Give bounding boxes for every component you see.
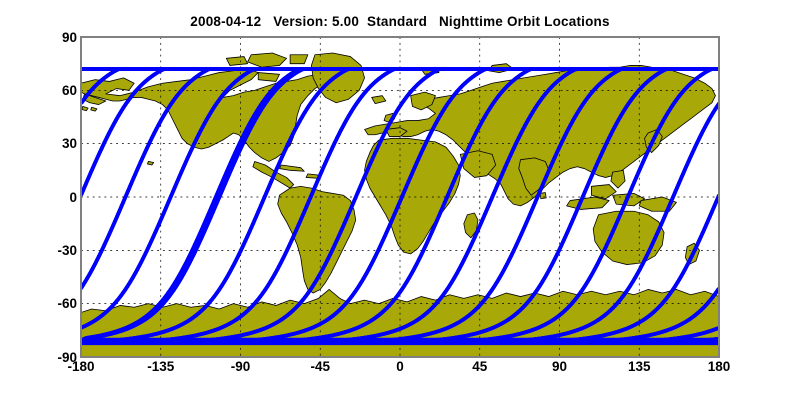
x-tick-m90: -90 <box>231 360 251 374</box>
x-tick-90: 90 <box>552 360 567 374</box>
polar-convergence-band <box>81 339 719 343</box>
y-axis-latitude-ticks: 90 60 30 0 -30 -60 -90 <box>27 37 77 357</box>
y-tick-m30: -30 <box>33 244 77 258</box>
x-tick-m45: -45 <box>310 360 330 374</box>
orbit-map-figure: 2008-04-12 Version: 5.00 Standard Nightt… <box>0 0 800 400</box>
y-tick-30: 30 <box>33 137 77 151</box>
figure-title: 2008-04-12 Version: 5.00 Standard Nightt… <box>0 14 800 29</box>
y-tick-m60: -60 <box>33 297 77 311</box>
x-axis-longitude-ticks: -180 -135 -90 -45 0 45 90 135 180 <box>81 358 719 378</box>
land-hawaii <box>147 161 153 165</box>
x-tick-135: 135 <box>628 360 651 374</box>
land-arctic-islands-4 <box>226 57 247 66</box>
land-arctic-islands-3 <box>258 73 279 82</box>
y-tick-0: 0 <box>33 191 77 205</box>
world-map-svg <box>81 37 719 357</box>
x-tick-0: 0 <box>396 360 404 374</box>
y-tick-60: 60 <box>33 84 77 98</box>
x-tick-m135: -135 <box>147 360 174 374</box>
x-tick-45: 45 <box>472 360 487 374</box>
x-tick-180: 180 <box>708 360 731 374</box>
map-plot-area <box>81 37 719 357</box>
land-arctic-islands-2 <box>290 55 308 64</box>
y-tick-90: 90 <box>33 31 77 45</box>
x-tick-m180: -180 <box>67 360 94 374</box>
